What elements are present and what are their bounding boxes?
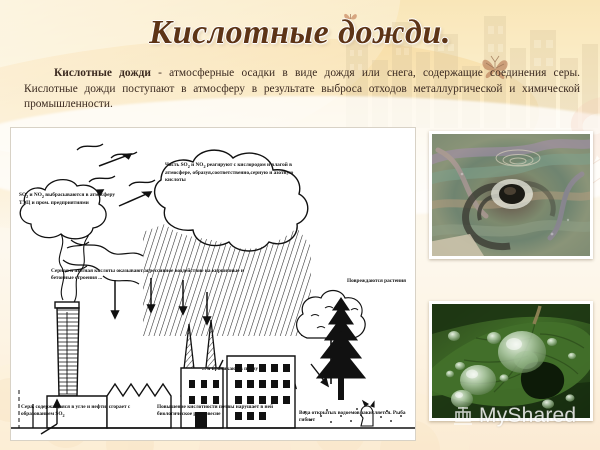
photo-oil-slick-water (429, 131, 593, 259)
diagram-label-cloud-reaction: Часть SO2 и NO2 реагируют с кислородом и… (165, 162, 299, 184)
page-title: Кислотные дожди. (0, 14, 600, 52)
diagram-label-soil-penetration: ... и проникают в почву (193, 366, 267, 373)
diagram-label-water-acidity: Вода открытых водоемов закисляется. Рыба… (299, 410, 407, 424)
intro-lead-term: Кислотные дожди (54, 67, 151, 79)
diagram-label-emission: SO2 и NO2 выбрасываются в атмосферу ТЭЦ … (19, 192, 127, 207)
smokestack (55, 302, 79, 396)
diagram-label-plants-damage: Повреждаются растения (347, 278, 409, 285)
diagram-label-buildings-damage: Серная и азотная кислоты оказывают агрес… (51, 268, 247, 282)
slide-canvas: Кислотные дожди. Кислотные дожди - атмос… (0, 0, 600, 450)
oil-slick-image (432, 134, 590, 256)
watermark: MyShared (452, 404, 576, 428)
diagram-label-sulfur-burning: Сера, содержащаяся в угле и нефти, сгора… (21, 404, 143, 419)
diagram-label-soil-acidity: Повышение кислотности почвы нарушает в н… (157, 404, 281, 418)
intro-paragraph: Кислотные дожди - атмосферные осадки в в… (24, 66, 580, 113)
acid-rain-diagram: SO2 и NO2 выбрасываются в атмосферу ТЭЦ … (10, 127, 416, 441)
watermark-text: MyShared (479, 404, 576, 428)
photo-leaf-droplets (429, 301, 593, 421)
myshared-logo-icon (452, 405, 474, 427)
leaf-droplets-image (432, 304, 590, 418)
